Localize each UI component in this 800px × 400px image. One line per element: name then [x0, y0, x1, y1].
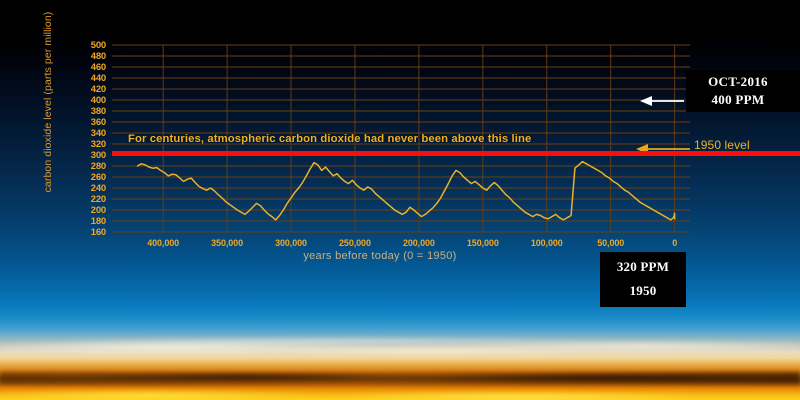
y-tick-label: 260 — [72, 173, 106, 183]
y-tick-label: 180 — [72, 217, 106, 227]
x-tick-label: 50,000 — [576, 238, 646, 248]
y-tick-label: 500 — [72, 41, 106, 51]
x-tick-label: 350,000 — [192, 238, 262, 248]
y-tick-label: 300 — [72, 151, 106, 161]
y-tick-label: 220 — [72, 195, 106, 205]
y-tick-label: 240 — [72, 184, 106, 194]
y-tick-label: 440 — [72, 74, 106, 84]
x-tick-label: 0 — [640, 238, 710, 248]
y-axis-title: carbon dioxide level (parts per million) — [42, 2, 54, 202]
co2-curve — [138, 162, 675, 220]
y-tick-label: 480 — [72, 52, 106, 62]
y-tick-label: 400 — [72, 96, 106, 106]
x-tick-label: 400,000 — [128, 238, 198, 248]
y-tick-label: 460 — [72, 63, 106, 73]
x-tick-label: 300,000 — [256, 238, 326, 248]
x-tick-label: 200,000 — [384, 238, 454, 248]
oct2016-arrow — [640, 96, 684, 106]
y-tick-label: 200 — [72, 206, 106, 216]
oct2016-ppm-label: 400 PPM — [686, 92, 790, 108]
reference-line-label: 1950 level — [694, 138, 750, 152]
x-tick-label: 100,000 — [512, 238, 582, 248]
x-tick-label: 250,000 — [320, 238, 390, 248]
y-tick-label: 280 — [72, 162, 106, 172]
oct2016-date-label: OCT-2016 — [686, 74, 790, 90]
y-tick-label: 360 — [72, 118, 106, 128]
y-tick-label: 160 — [72, 228, 106, 238]
ppm-1950-callout-box: 320 PPM 1950 — [600, 252, 686, 307]
ppm-1950-value-label: 320 PPM — [600, 259, 686, 275]
y-tick-label: 340 — [72, 129, 106, 139]
x-axis-title: years before today (0 = 1950) — [200, 250, 560, 262]
y-tick-label: 380 — [72, 107, 106, 117]
y-tick-label: 320 — [72, 140, 106, 150]
ppm-1950-year-label: 1950 — [600, 283, 686, 299]
headline-annotation: For centuries, atmospheric carbon dioxid… — [128, 133, 531, 145]
climate-co2-infographic: carbon dioxide level (parts per million)… — [0, 0, 800, 400]
y-tick-label: 420 — [72, 85, 106, 95]
oct2016-callout-box: OCT-2016 400 PPM — [686, 70, 800, 112]
co2-line-chart — [0, 0, 800, 400]
x-tick-label: 150,000 — [448, 238, 518, 248]
